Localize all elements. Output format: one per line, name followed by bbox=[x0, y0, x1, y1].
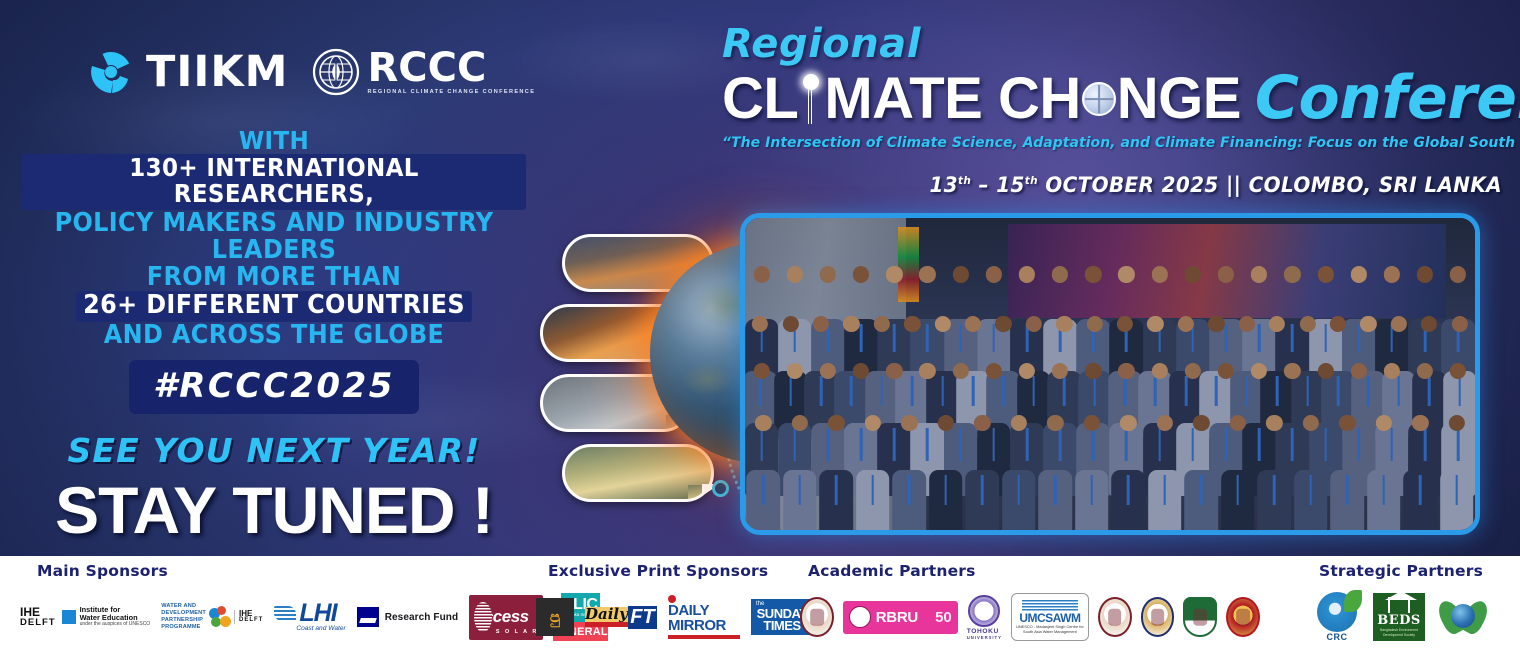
logo-lhi-coast-and-water[interactable]: LHI Coast and Water bbox=[274, 602, 345, 633]
photo-person-head bbox=[1178, 316, 1194, 332]
photo-person-head bbox=[1299, 316, 1315, 332]
photo-person-head bbox=[1218, 266, 1234, 282]
photo-person-head bbox=[919, 363, 935, 379]
stat-line-3: FROM MORE THAN bbox=[22, 264, 526, 291]
photo-person-lanyard bbox=[1455, 475, 1458, 505]
wdp-tag2: DELFT bbox=[239, 618, 263, 624]
photo-person-lanyard bbox=[981, 475, 984, 505]
logo-rbru-50[interactable]: RBRU 50 bbox=[843, 601, 958, 634]
rbru-wordmark: RBRU bbox=[876, 609, 918, 626]
photo-person-head bbox=[1284, 363, 1300, 379]
umcsawm-wave-icon bbox=[1022, 600, 1078, 611]
photo-person-lanyard bbox=[1346, 475, 1349, 505]
photo-person-head bbox=[1351, 266, 1367, 282]
axa-mark-icon bbox=[357, 607, 379, 627]
ihe-caption: Institute for Water Education under the … bbox=[80, 606, 151, 628]
lhi-subtitle: Coast and Water bbox=[296, 625, 345, 632]
photo-person-head bbox=[1317, 363, 1333, 379]
photo-person-lanyard bbox=[1236, 475, 1239, 505]
photo-person bbox=[1225, 415, 1251, 530]
photo-person bbox=[1371, 415, 1397, 530]
photo-person-head bbox=[813, 316, 829, 332]
photo-person-head bbox=[1303, 415, 1319, 431]
photo-person bbox=[1115, 415, 1141, 530]
photo-person-head bbox=[1360, 316, 1376, 332]
logo-row: TIIKM RCCC RE bbox=[88, 48, 535, 96]
photo-person-head bbox=[1118, 363, 1134, 379]
logo-umcsawm[interactable]: UMCSAWM UNESCO - Madanjeet Singh Centre … bbox=[1011, 593, 1089, 641]
photo-person-head bbox=[904, 316, 920, 332]
daily-mirror-bar bbox=[668, 635, 740, 639]
sponsor-group-strategic: Strategic Partners CRC BEDS Bangladesh E… bbox=[1286, 562, 1516, 645]
photo-person-head bbox=[1218, 363, 1234, 379]
photo-person-head bbox=[1052, 363, 1068, 379]
photo-person-head bbox=[752, 316, 768, 332]
photo-person-head bbox=[1208, 316, 1224, 332]
photo-person-head bbox=[995, 316, 1011, 332]
ihe-line2: DELFT bbox=[20, 618, 56, 627]
photo-person-head bbox=[874, 316, 890, 332]
logo-university-crest-5[interactable] bbox=[1226, 597, 1260, 637]
photo-person-lanyard bbox=[1273, 475, 1276, 505]
photo-person-head bbox=[1284, 266, 1300, 282]
wdp-l1: WATER AND bbox=[161, 603, 196, 609]
photo-person-head bbox=[974, 415, 990, 431]
photo-person-head bbox=[1376, 415, 1392, 431]
photo-person-head bbox=[1384, 266, 1400, 282]
photo-person-head bbox=[965, 316, 981, 332]
photo-row-front bbox=[745, 415, 1475, 530]
photo-person-head bbox=[986, 266, 1002, 282]
title-main-text: CL MATE CH NGE bbox=[722, 69, 1241, 130]
photo-person bbox=[750, 415, 776, 530]
title-main-row: CL MATE CH NGE Conference bbox=[722, 68, 1502, 130]
logo-access-solar[interactable]: ccess S O L A R bbox=[469, 595, 543, 640]
photo-person-head bbox=[886, 266, 902, 282]
rccc-logo[interactable]: RCCC REGIONAL CLIMATE CHANGE CONFERENCE bbox=[312, 48, 535, 96]
date-day-2: 15 bbox=[996, 173, 1025, 197]
photo-person-head bbox=[1084, 415, 1100, 431]
earth-center-icon bbox=[1451, 604, 1475, 628]
conference-date-location: 13th – 15th OCTOBER 2025 || COLOMBO, SRI… bbox=[761, 173, 1502, 197]
tohoku-wordmark: TOHOKU UNIVERSITY bbox=[967, 628, 1002, 640]
date-day-1: 13 bbox=[929, 173, 958, 197]
photo-person-lanyard bbox=[1419, 475, 1422, 505]
photo-person bbox=[823, 415, 849, 530]
photo-person-head bbox=[1026, 316, 1042, 332]
photo-person-head bbox=[1230, 415, 1246, 431]
photo-person-head bbox=[1147, 316, 1163, 332]
logo-tohoku-university[interactable]: TOHOKU UNIVERSITY bbox=[967, 595, 1002, 640]
photo-person bbox=[860, 415, 886, 530]
stat-line-1-highlight: 130+ INTERNATIONAL RESEARCHERS, bbox=[22, 154, 526, 210]
photo-person-head bbox=[952, 266, 968, 282]
stat-line-4-highlight: 26+ DIFFERENT COUNTRIES bbox=[77, 291, 472, 322]
conference-banner: TIIKM RCCC RE bbox=[0, 0, 1520, 667]
photo-person-head bbox=[787, 266, 803, 282]
ihe-caption3: under the auspices of UNESCO bbox=[80, 622, 151, 628]
photo-person-head bbox=[934, 316, 950, 332]
photo-person bbox=[1298, 415, 1324, 530]
photo-person-head bbox=[1052, 266, 1068, 282]
sponsor-group-print: Exclusive Print Sponsors පු Daily FT DAI… bbox=[536, 562, 786, 645]
photo-person-lanyard bbox=[1200, 475, 1203, 505]
wdp-ihe-tag: IHE DELFT bbox=[234, 610, 263, 623]
logo-wijeya-newspapers[interactable]: පු bbox=[536, 598, 574, 636]
photo-person-head bbox=[1056, 316, 1072, 332]
photo-person-lanyard bbox=[908, 475, 911, 505]
photo-person-head bbox=[986, 363, 1002, 379]
tohoku-name: TOHOKU bbox=[967, 628, 999, 635]
beds-house-icon bbox=[1388, 597, 1410, 613]
sponsor-group-title: Strategic Partners bbox=[1286, 562, 1516, 580]
see-you-next-year-text: SEE YOU NEXT YEAR! bbox=[0, 431, 548, 470]
photo-person-head bbox=[755, 415, 771, 431]
tohoku-crest-icon bbox=[968, 595, 1000, 627]
photo-person-head bbox=[938, 415, 954, 431]
photo-person-head bbox=[1118, 266, 1134, 282]
photo-person-head bbox=[1185, 363, 1201, 379]
logo-daily-mirror[interactable]: DAILY MIRROR bbox=[668, 595, 740, 639]
sponsor-group-main: Main Sponsors IHE DELFT Institute for Wa… bbox=[20, 562, 530, 645]
photo-person-head bbox=[753, 266, 769, 282]
photo-person-head bbox=[1266, 415, 1282, 431]
photo-person bbox=[1079, 415, 1105, 530]
photo-person-lanyard bbox=[1127, 475, 1130, 505]
wdp-l3: PARTNERSHIP bbox=[161, 617, 203, 623]
photo-person bbox=[933, 415, 959, 530]
sponsor-group-title: Academic Partners bbox=[808, 562, 1260, 580]
photo-person-head bbox=[1351, 363, 1367, 379]
rccc-globe-leaf-icon bbox=[312, 48, 360, 96]
photo-person bbox=[1188, 415, 1214, 530]
photo-person-lanyard bbox=[835, 475, 838, 505]
stat-line-1: WITH 130+ INTERNATIONAL RESEARCHERS, bbox=[22, 128, 526, 210]
logo-university-crest-2[interactable] bbox=[1098, 597, 1132, 637]
stat-line-1-prefix: WITH bbox=[239, 126, 309, 155]
logo-water-development-partnership[interactable]: WATER AND DEVELOPMENT PARTNERSHIP PROGRA… bbox=[161, 603, 263, 631]
group-photo-frame bbox=[740, 213, 1480, 535]
photo-person bbox=[1407, 415, 1433, 530]
access-sun-icon bbox=[474, 602, 492, 632]
photo-person-head bbox=[1047, 415, 1063, 431]
photo-person-head bbox=[919, 266, 935, 282]
date-sup-1: th bbox=[958, 174, 971, 187]
photo-person-head bbox=[828, 415, 844, 431]
rccc-wordmark: RCCC bbox=[367, 49, 535, 87]
photo-person-head bbox=[1417, 266, 1433, 282]
logo-university-crest-1[interactable] bbox=[800, 597, 834, 637]
rbru-crest-icon bbox=[849, 606, 871, 628]
photo-person-lanyard bbox=[1382, 475, 1385, 505]
umcsawm-wordmark: UMCSAWM bbox=[1019, 612, 1080, 624]
date-sup-2: th bbox=[1025, 174, 1038, 187]
photo-person-head bbox=[753, 363, 769, 379]
globe-letter-a-icon bbox=[1082, 82, 1116, 116]
photo-person-head bbox=[1239, 316, 1255, 332]
photo-person-head bbox=[952, 363, 968, 379]
photo-person-lanyard bbox=[871, 475, 874, 505]
photo-person-head bbox=[1251, 266, 1267, 282]
rbru-anniversary: 50 bbox=[935, 609, 952, 626]
photo-person-lanyard bbox=[944, 475, 947, 505]
photo-person-head bbox=[1117, 316, 1133, 332]
photo-person bbox=[969, 415, 995, 530]
logo-axa-research-fund[interactable]: Research Fund bbox=[357, 607, 459, 627]
sun-icon bbox=[800, 72, 822, 126]
lhi-wordmark: LHI bbox=[299, 602, 336, 625]
tiikm-mark-icon bbox=[88, 49, 135, 96]
photo-person bbox=[1042, 415, 1068, 530]
photo-person bbox=[1006, 415, 1032, 530]
photo-person-head bbox=[1011, 415, 1027, 431]
beds-subtitle: Bangladesh Environment Development Socie… bbox=[1373, 628, 1425, 636]
photo-person-head bbox=[1120, 415, 1136, 431]
photo-person-head bbox=[1412, 415, 1428, 431]
logo-crc[interactable]: CRC bbox=[1317, 592, 1357, 642]
photo-person-head bbox=[1450, 363, 1466, 379]
photo-person-head bbox=[1450, 266, 1466, 282]
photo-person-head bbox=[1087, 316, 1103, 332]
photo-person-head bbox=[1152, 266, 1168, 282]
photo-person-head bbox=[820, 363, 836, 379]
tiikm-logo[interactable]: TIIKM bbox=[88, 49, 288, 96]
ihe-square-icon bbox=[62, 610, 76, 624]
photo-person-head bbox=[1330, 316, 1346, 332]
wdp-l2: DEVELOPMENT bbox=[161, 610, 206, 616]
lhi-wave-icon bbox=[274, 606, 296, 621]
tiikm-wordmark: TIIKM bbox=[146, 51, 288, 94]
stat-line-4: 26+ DIFFERENT COUNTRIES bbox=[22, 291, 526, 322]
stay-tuned-text: STAY TUNED ! bbox=[0, 477, 548, 543]
photo-person-head bbox=[1251, 363, 1267, 379]
wdp-text: WATER AND DEVELOPMENT PARTNERSHIP PROGRA… bbox=[161, 603, 206, 631]
photo-person-head bbox=[853, 266, 869, 282]
logo-green-earth-leaf-partner[interactable] bbox=[1441, 595, 1485, 639]
stat-line-2: POLICY MAKERS AND INDUSTRY LEADERS bbox=[22, 210, 526, 264]
sunday-times-line3: TIMES bbox=[763, 620, 800, 632]
photo-person bbox=[1444, 415, 1470, 530]
photo-person-head bbox=[901, 415, 917, 431]
photo-person bbox=[1334, 415, 1360, 530]
title-conference-script: Conference bbox=[1255, 68, 1520, 128]
photo-crowd bbox=[745, 255, 1475, 530]
umcsawm-subtitle: UNESCO - Madanjeet Singh Centre for Sout… bbox=[1015, 625, 1085, 635]
photo-person-head bbox=[787, 363, 803, 379]
photo-person-head bbox=[1019, 266, 1035, 282]
group-photo-image bbox=[745, 218, 1475, 530]
logo-university-crest-3[interactable] bbox=[1141, 597, 1175, 637]
daily-mirror-line2: MIRROR bbox=[668, 619, 726, 633]
title-part-1: CL bbox=[722, 69, 798, 130]
photo-person-head bbox=[886, 363, 902, 379]
photo-person-head bbox=[792, 415, 808, 431]
photo-person-head bbox=[1417, 363, 1433, 379]
crc-wordmark: CRC bbox=[1327, 632, 1348, 642]
dailyft-ft-mark: FT bbox=[628, 606, 657, 629]
dailyft-wordmark: Daily bbox=[585, 607, 628, 622]
title-kicker: Regional bbox=[722, 24, 1502, 64]
photo-person-head bbox=[1085, 363, 1101, 379]
axa-research-fund-label: Research Fund bbox=[385, 612, 459, 623]
photo-person-head bbox=[1421, 316, 1437, 332]
photo-person-head bbox=[1019, 363, 1035, 379]
photo-person-head bbox=[1157, 415, 1173, 431]
date-separator: – bbox=[971, 173, 996, 197]
photo-person-lanyard bbox=[1017, 475, 1020, 505]
wdp-l4: PROGRAMME bbox=[161, 624, 200, 630]
stat-line-5: AND ACROSS THE GLOBE bbox=[22, 322, 526, 349]
title-part-3: NGE bbox=[1117, 69, 1241, 130]
hashtag-badge: #RCCC2025 bbox=[129, 360, 419, 414]
photo-person-head bbox=[1449, 415, 1465, 431]
sponsor-strip: Main Sponsors IHE DELFT Institute for Wa… bbox=[0, 556, 1520, 667]
logo-beds[interactable]: BEDS Bangladesh Environment Development … bbox=[1373, 593, 1425, 641]
photo-person-lanyard bbox=[798, 475, 801, 505]
date-rest: OCTOBER 2025 || COLOMBO, SRI LANKA bbox=[1038, 173, 1502, 197]
photo-person-lanyard bbox=[1090, 475, 1093, 505]
photo-person-head bbox=[1339, 415, 1355, 431]
photo-person-lanyard bbox=[1163, 475, 1166, 505]
photo-person-head bbox=[853, 363, 869, 379]
photo-person-head bbox=[1391, 316, 1407, 332]
photo-person-head bbox=[1152, 363, 1168, 379]
sponsor-group-title: Main Sponsors bbox=[37, 562, 530, 580]
photo-person-head bbox=[1185, 266, 1201, 282]
photo-person bbox=[1152, 415, 1178, 530]
wdp-dots-icon bbox=[209, 606, 231, 628]
photo-person-lanyard bbox=[1054, 475, 1057, 505]
photo-person-head bbox=[1193, 415, 1209, 431]
banner-content-area: TIIKM RCCC RE bbox=[0, 0, 1520, 556]
title-part-2: MATE CH bbox=[824, 69, 1080, 130]
sponsor-group-title: Exclusive Print Sponsors bbox=[548, 562, 786, 580]
photo-person-head bbox=[820, 266, 836, 282]
title-block: Regional CL MATE CH NGE Conference “The … bbox=[722, 24, 1502, 197]
sponsor-group-academic: Academic Partners RBRU 50 TOHOKU UNIVERS… bbox=[800, 562, 1260, 645]
tohoku-sub: UNIVERSITY bbox=[967, 635, 1002, 640]
photo-person-head bbox=[843, 316, 859, 332]
photo-person bbox=[787, 415, 813, 530]
conference-tagline: “The Intersection of Climate Science, Ad… bbox=[722, 135, 1490, 151]
photo-person-lanyard bbox=[762, 475, 765, 505]
logo-daily-ft[interactable]: Daily FT bbox=[585, 601, 657, 634]
photo-person-head bbox=[1451, 316, 1467, 332]
photo-person bbox=[896, 415, 922, 530]
photo-person-head bbox=[782, 316, 798, 332]
access-solar-label: S O L A R bbox=[496, 629, 538, 635]
rccc-subtitle: REGIONAL CLIMATE CHANGE CONFERENCE bbox=[367, 89, 535, 95]
photo-person-head bbox=[1317, 266, 1333, 282]
photo-person-head bbox=[1384, 363, 1400, 379]
photo-person bbox=[1261, 415, 1287, 530]
left-copy-block: WITH 130+ INTERNATIONAL RESEARCHERS, POL… bbox=[0, 128, 548, 543]
photo-person-head bbox=[865, 415, 881, 431]
logo-university-crest-4[interactable] bbox=[1183, 597, 1217, 637]
crc-globe-leaf-icon bbox=[1317, 592, 1357, 632]
photo-person-head bbox=[1085, 266, 1101, 282]
logo-ihe-delft[interactable]: IHE DELFT Institute for Water Education … bbox=[20, 606, 150, 628]
photo-person-head bbox=[1269, 316, 1285, 332]
beds-wordmark: BEDS bbox=[1377, 614, 1421, 627]
photo-person-lanyard bbox=[1309, 475, 1312, 505]
ihe-wordmark: IHE DELFT bbox=[20, 607, 56, 627]
